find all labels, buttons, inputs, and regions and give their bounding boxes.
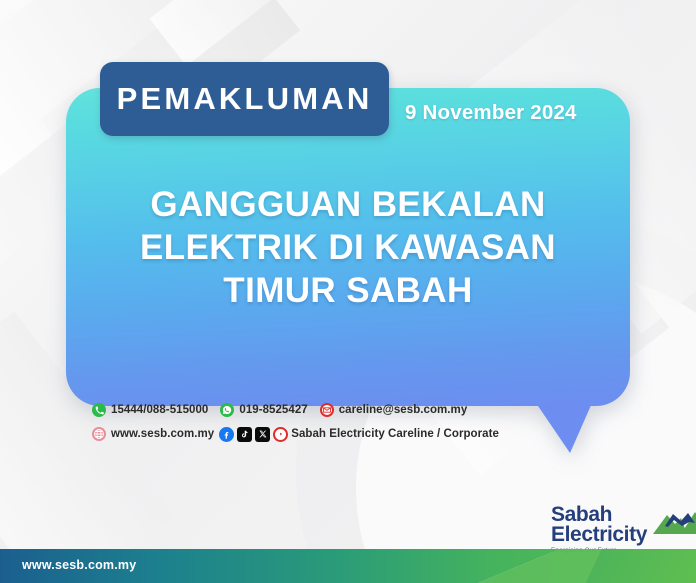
headline-line-3: TIMUR SABAH [66,269,630,312]
poster-canvas: PEMAKLUMAN 9 November 2024 GANGGUAN BEKA… [0,0,696,583]
sabah-electricity-logo: Sabah Electricity Energising Our Future [551,505,691,554]
headline: GANGGUAN BEKALAN ELEKTRIK DI KAWASAN TIM… [66,183,630,312]
footer-band: www.sesb.com.my [0,549,696,583]
whatsapp-number: 019-8525427 [239,404,307,416]
logo-line-2: Electricity [551,525,647,545]
footer-band-accent [582,549,696,583]
phone-number: 15444/088-515000 [111,404,208,416]
tiktok-icon[interactable] [237,427,252,442]
speech-bubble-tail [536,403,592,453]
youtube-icon[interactable] [273,427,288,442]
facebook-icon[interactable] [219,427,234,442]
whatsapp-icon [220,403,234,417]
email-address: careline@sesb.com.my [339,404,468,416]
contact-block: 15444/088-515000 019-8525427 careline@se… [92,400,499,448]
phone-icon [92,403,106,417]
globe-icon [92,427,106,441]
social-handles: Sabah Electricity Careline / Corporate [291,428,499,440]
contact-row-web: www.sesb.com.my Sabah Electricity Careli… [92,424,499,444]
website-url: www.sesb.com.my [111,428,214,440]
announcement-badge: PEMAKLUMAN [100,62,389,136]
headline-line-1: GANGGUAN BEKALAN [66,183,630,226]
footer-website-url: www.sesb.com.my [22,558,136,572]
headline-line-2: ELEKTRIK DI KAWASAN [66,226,630,269]
x-icon[interactable] [255,427,270,442]
contact-row-phone: 15444/088-515000 019-8525427 careline@se… [92,400,499,420]
announcement-badge-label: PEMAKLUMAN [117,81,373,117]
logo-line-1: Sabah [551,505,647,525]
announcement-date: 9 November 2024 [405,101,577,125]
mountain-icon [651,506,696,541]
email-icon [320,403,334,417]
